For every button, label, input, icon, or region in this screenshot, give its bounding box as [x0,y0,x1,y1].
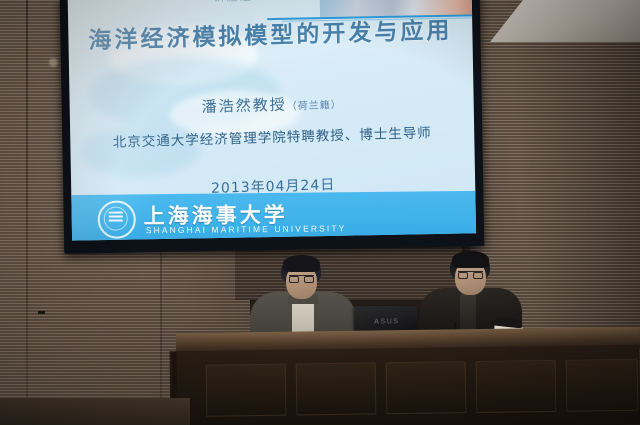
person-right-hair-top [452,251,489,268]
wall-blemish [49,58,58,67]
floor [0,398,190,425]
slide-footer-band: 上海海事大学 SHANGHAI MARITIME UNIVERSITY [68,191,476,241]
slide-kicker: 讲座之一： [214,0,279,5]
laptop-brand-label: ASUS [374,318,399,326]
seal-inner-mark [109,212,123,223]
table-panel [296,362,377,415]
table-panel [476,360,557,413]
wall-mark [38,311,45,314]
podium-table-front [169,345,640,425]
person-right-shirt [460,292,476,332]
table-panel [206,364,287,417]
university-seal-icon [98,200,136,238]
person-left-hair-top [283,255,320,272]
table-panel [566,359,639,412]
slide-speaker-name: 潘浩然教授 [202,96,287,116]
table-panel [386,361,467,414]
projection-screen: 讲座之一： 海洋经济模拟模型的开发与应用 潘浩然教授（荷兰籍） 北京交通大学经济… [60,0,485,254]
university-name-en: SHANGHAI MARITIME UNIVERSITY [146,223,347,235]
presentation-slide: 讲座之一： 海洋经济模拟模型的开发与应用 潘浩然教授（荷兰籍） 北京交通大学经济… [68,0,476,241]
lecture-hall-photo: 讲座之一： 海洋经济模拟模型的开发与应用 潘浩然教授（荷兰籍） 北京交通大学经济… [0,0,640,425]
person-left-glasses [289,275,314,281]
wall-seam [26,0,28,425]
person-right-glasses [458,271,483,277]
slide-speaker-note: （荷兰籍） [287,100,342,113]
slide-title: 海洋经济模拟模型的开发与应用 [68,10,472,56]
